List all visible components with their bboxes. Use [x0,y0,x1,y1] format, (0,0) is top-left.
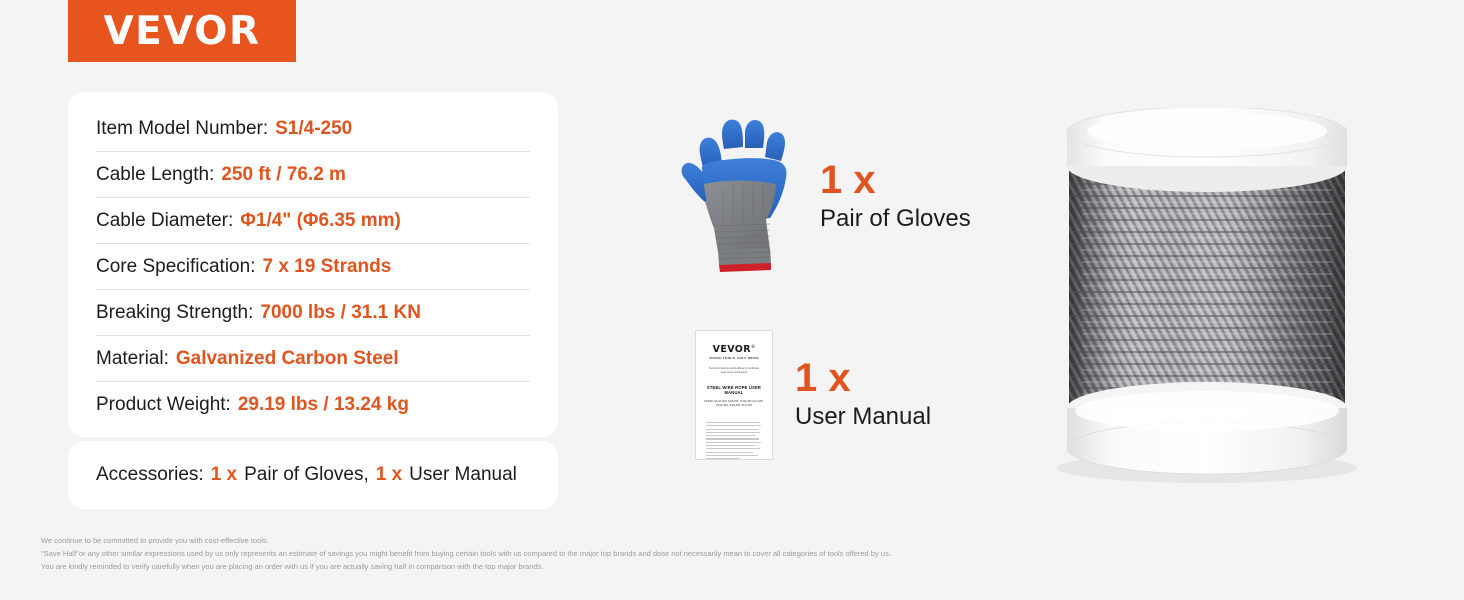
spec-value: Φ1/4" (Φ6.35 mm) [240,210,401,232]
manual-cover-title: STEEL WIRE ROPE USER MANUAL [703,385,765,395]
accessories-summary: Accessories:1 xPair of Gloves,1 xUser Ma… [96,464,517,486]
manual-cover-tagline: TOUGH TOOLS, HALF PRICE [703,356,765,360]
manual-cover-bodytext [703,422,765,459]
product-image-wire-rope-spool [1012,108,1402,493]
accessories-item-1: Pair of Gloves, [244,464,369,485]
manual-cover-logo-text: VEVOR [713,344,751,355]
spec-label: Core Specification: [96,256,255,278]
manual-cover-models: MODEL:S1/16-250, S1/8-250, S3/16-250 S1/… [703,400,765,409]
spec-row: Material: Galvanized Carbon Steel [96,336,530,382]
spec-row: Cable Length: 250 ft / 76.2 m [96,152,530,198]
spec-row: Core Specification: 7 x 19 Strands [96,244,530,290]
user-manual-icon: VEVOR® TOUGH TOOLS, HALF PRICE Technical… [695,330,773,460]
spec-row: Item Model Number: S1/4-250 [96,106,530,152]
accessory-qty: 1 x [820,159,971,201]
disclaimer-text: We continue to be committed to provide y… [41,534,891,573]
accessory-caption: 1 x User Manual [795,357,931,432]
spec-row: Breaking Strength: 7000 lbs / 31.1 KN [96,290,530,336]
spec-row: Cable Diameter: Φ1/4" (Φ6.35 mm) [96,198,530,244]
accessory-caption: 1 x Pair of Gloves [820,159,971,234]
disclaimer-line: You are kindly reminded to verify carefu… [41,560,891,573]
manual-cover-subline: Technical Support and E-Warranty Certifi… [703,367,765,376]
accessories-qty-1: 1 x [211,464,237,485]
spec-label: Item Model Number: [96,118,268,140]
spec-row: Product Weight: 29.19 lbs / 13.24 kg [96,382,530,427]
spec-label: Material: [96,348,169,370]
disclaimer-line: We continue to be committed to provide y… [41,534,891,547]
specification-card: Item Model Number: S1/4-250 Cable Length… [68,92,558,437]
accessories-item-2: User Manual [409,464,517,485]
spec-label: Cable Diameter: [96,210,233,232]
manual-cover-logo: VEVOR® [703,344,765,355]
accessories-qty-2: 1 x [376,464,402,485]
accessory-name: User Manual [795,401,931,432]
spec-value: 7000 lbs / 31.1 KN [260,302,421,324]
accessories-label: Accessories: [96,464,204,485]
spec-value: 7 x 19 Strands [262,256,391,278]
accessories-card: Accessories:1 xPair of Gloves,1 xUser Ma… [68,441,558,509]
vevor-logo: VEVOR [68,0,296,62]
vevor-logo-text: VEVOR [103,12,260,51]
spec-value: Galvanized Carbon Steel [176,348,399,370]
accessory-gloves: 1 x Pair of Gloves [678,118,971,276]
accessory-manual: VEVOR® TOUGH TOOLS, HALF PRICE Technical… [695,330,931,460]
accessory-name: Pair of Gloves [820,203,971,234]
spec-value: S1/4-250 [275,118,352,140]
spec-value: 250 ft / 76.2 m [221,164,346,186]
spec-value: 29.19 lbs / 13.24 kg [238,394,409,416]
accessory-qty: 1 x [795,357,931,399]
work-glove-icon [678,118,800,276]
spec-label: Breaking Strength: [96,302,253,324]
spec-label: Product Weight: [96,394,231,416]
disclaimer-line: "Save Half"or any other similar expressi… [41,547,891,560]
spec-label: Cable Length: [96,164,214,186]
